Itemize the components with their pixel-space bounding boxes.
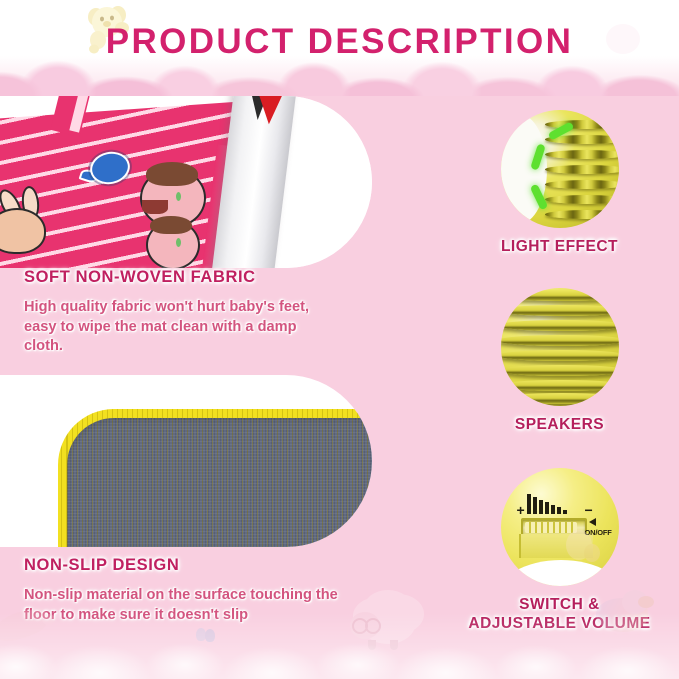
- switch-volume-image: + − ON/OFF: [501, 468, 619, 586]
- header-cloud-wash: [0, 56, 679, 96]
- soft-fabric-image: [0, 96, 372, 268]
- feature-body-non-slip: Non-slip material on the surface touchin…: [24, 586, 354, 625]
- feature-body-soft-fabric: High quality fabric won't hurt baby's fe…: [24, 298, 324, 357]
- light-effect-image: [501, 110, 619, 228]
- caption-switch-volume-line1: SWITCH &: [440, 595, 679, 614]
- mat-underside-grip: [58, 409, 372, 547]
- volume-slider-knob[interactable]: [525, 522, 577, 533]
- power-direction-arrow-icon: [589, 518, 596, 526]
- volume-decrease-label: −: [585, 503, 593, 517]
- feature-heading-soft-fabric: SOFT NON-WOVEN FABRIC: [24, 268, 256, 287]
- volume-increase-label: +: [517, 503, 525, 517]
- caption-light-effect: LIGHT EFFECT: [440, 237, 679, 256]
- product-description-page: PRODUCT DESCRIPTION SOFT NON-WOVEN FABRI…: [0, 0, 679, 679]
- circle-feature-speakers: SPEAKERS: [440, 288, 679, 434]
- header-band: PRODUCT DESCRIPTION: [0, 0, 679, 96]
- caption-switch-volume-line2: ADJUSTABLE VOLUME: [440, 614, 679, 633]
- non-slip-image: [0, 375, 372, 547]
- page-title: PRODUCT DESCRIPTION: [0, 22, 679, 62]
- speakers-image: [501, 288, 619, 406]
- circle-feature-switch-volume: + − ON/OFF SWITCH & ADJUSTABLE VOLUME: [440, 468, 679, 633]
- volume-level-bars-icon: [527, 494, 585, 514]
- caption-switch-volume: SWITCH & ADJUSTABLE VOLUME: [440, 595, 679, 633]
- feature-heading-non-slip: NON-SLIP DESIGN: [24, 556, 179, 575]
- circle-feature-light-effect: LIGHT EFFECT: [440, 110, 679, 256]
- caption-speakers: SPEAKERS: [440, 415, 679, 434]
- power-switch-label: ON/OFF: [585, 528, 612, 537]
